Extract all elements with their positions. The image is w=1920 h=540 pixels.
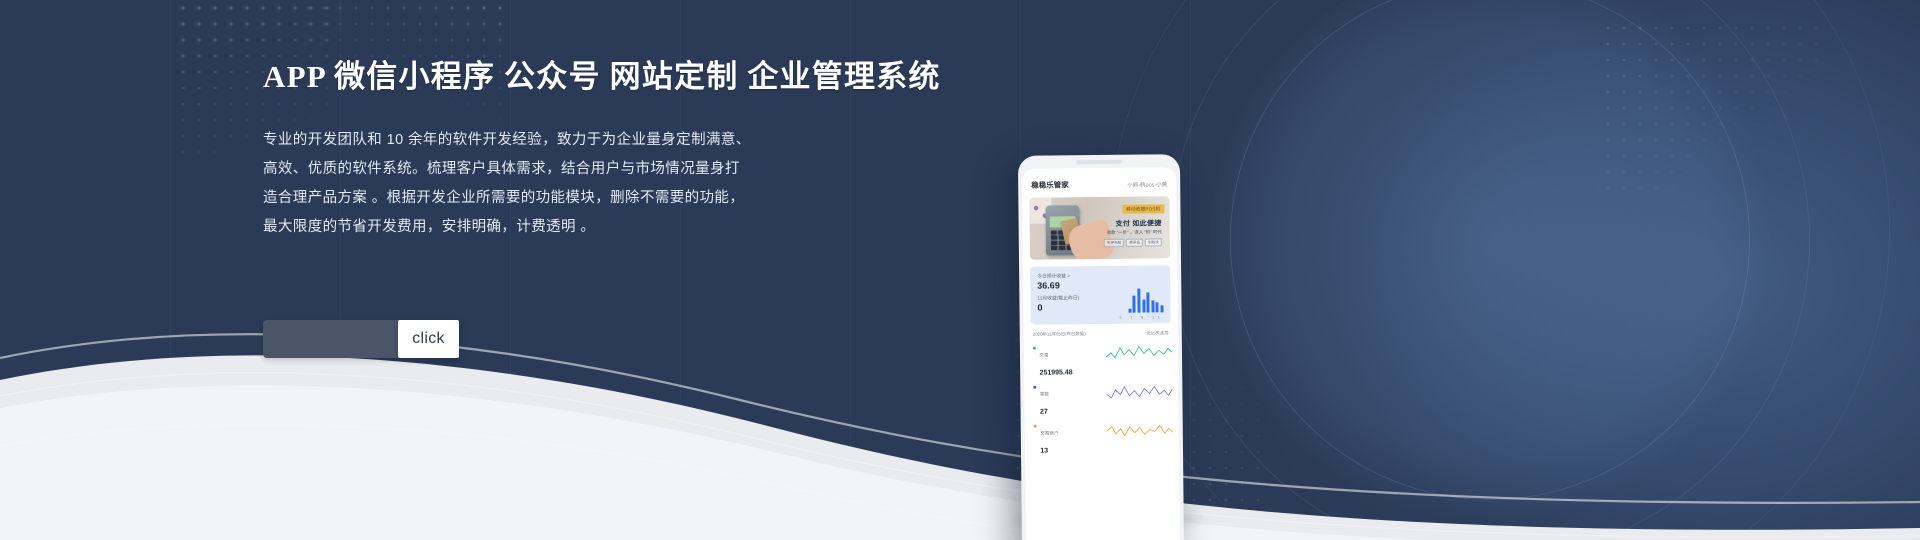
hero-content: APP 微信小程序 公众号 网站定制 企业管理系统 专业的开发团队和 10 余年…: [263, 58, 983, 242]
earnings-card[interactable]: 今日预计收益 > 36.69 11月收益(截止昨日) 0 5 7 9 11: [1030, 265, 1171, 324]
sparkline-chart: [1106, 381, 1172, 402]
phone-speaker: [1076, 160, 1122, 164]
paragraph-line: 最大限度的节省开发费用，安排明确，计费透明 。: [263, 213, 983, 242]
promo-chip: 到账快: [1145, 238, 1162, 246]
stat-row: 交易 251995.48: [1024, 339, 1178, 380]
earnings-bar: [1156, 303, 1159, 313]
cta-group: click: [263, 320, 459, 358]
stat-label: 交易: [1039, 353, 1048, 358]
status-dot: [1034, 425, 1037, 428]
promo-subline: 收款 "一步" ，进入 "码" 时代: [1107, 229, 1162, 236]
cta-input-field[interactable]: [263, 320, 398, 358]
hero-banner: APP 微信小程序 公众号 网站定制 企业管理系统 专业的开发团队和 10 余年…: [0, 0, 1920, 540]
earnings-bar-axis: 5 7 9 11: [1120, 315, 1164, 319]
promo-headline: 支付 如此便捷: [1116, 218, 1162, 228]
wave-decoration: [0, 210, 1920, 540]
status-dot: [1033, 347, 1036, 350]
dot-pattern-top-right: [1600, 20, 1830, 200]
phone-screen: 稳稳乐管家 小鹤-鹤pos-小黄 移动收银POS机 支付 如此便捷 收款 "一步…: [1022, 167, 1180, 540]
promo-tag: 移动收银POS机: [1122, 204, 1164, 213]
click-button[interactable]: click: [398, 320, 459, 358]
earnings-bar: [1137, 289, 1140, 313]
earnings-bar: [1133, 295, 1136, 312]
today-earnings-label: 今日预计收益 >: [1037, 271, 1163, 279]
stat-value: 27: [1040, 409, 1048, 416]
stats-trend-label: 近15天走势: [1146, 330, 1169, 336]
hero-paragraph: 专业的开发团队和 10 余年的软件开发经验，致力于为企业量身定制满意、 高效、优…: [263, 126, 983, 242]
promo-chip: 费率低: [1126, 239, 1143, 247]
stats-header: 2020年11月05日(昨日数据) 近15天走势: [1024, 323, 1178, 341]
earnings-bar: [1128, 308, 1131, 312]
phone-body: 稳稳乐管家 小鹤-鹤pos-小黄 移动收银POS机 支付 如此便捷 收款 "一步…: [1018, 154, 1184, 540]
promo-chip-group: 免押免租 费率低 到账快: [1104, 238, 1162, 247]
sparkline-chart: [1107, 420, 1173, 441]
stat-value: 13: [1040, 448, 1048, 455]
stats-date-label: 2020年11月05日(昨日数据): [1033, 331, 1086, 338]
app-header: 稳稳乐管家 小鹤-鹤pos-小黄: [1022, 167, 1176, 198]
stat-row: 交易商户 13: [1025, 417, 1179, 458]
stat-label: 交易商户: [1040, 430, 1058, 435]
earnings-bar-chart: [1128, 288, 1163, 312]
page-title: APP 微信小程序 公众号 网站定制 企业管理系统: [263, 58, 983, 97]
phone-mockup: 稳稳乐管家 小鹤-鹤pos-小黄 移动收银POS机 支付 如此便捷 收款 "一步…: [1018, 154, 1184, 540]
stat-value: 251995.48: [1040, 369, 1073, 376]
stat-row: 笔数 27: [1024, 378, 1178, 419]
status-dot: [1033, 386, 1036, 389]
app-subtitle: 小鹤-鹤pos-小黄: [1127, 180, 1167, 188]
app-title: 稳稳乐管家: [1031, 179, 1069, 190]
earnings-bar: [1160, 306, 1163, 313]
stat-label: 笔数: [1040, 392, 1049, 397]
paragraph-line: 高效、优质的软件系统。梳理客户具体需求，结合用户与市场情况量身打: [263, 155, 983, 184]
promo-banner[interactable]: 移动收银POS机 支付 如此便捷 收款 "一步" ，进入 "码" 时代 免押免租…: [1029, 196, 1170, 259]
earnings-bar: [1151, 300, 1154, 312]
earnings-bar: [1142, 299, 1145, 312]
sparkline-chart: [1106, 342, 1172, 363]
promo-chip: 免押免租: [1104, 239, 1124, 247]
earnings-bar: [1147, 293, 1150, 313]
paragraph-line: 专业的开发团队和 10 余年的软件开发经验，致力于为企业量身定制满意、: [263, 126, 983, 155]
paragraph-line: 造合理产品方案 。根据开发企业所需要的功能模块，删除不需要的功能，: [263, 184, 983, 213]
